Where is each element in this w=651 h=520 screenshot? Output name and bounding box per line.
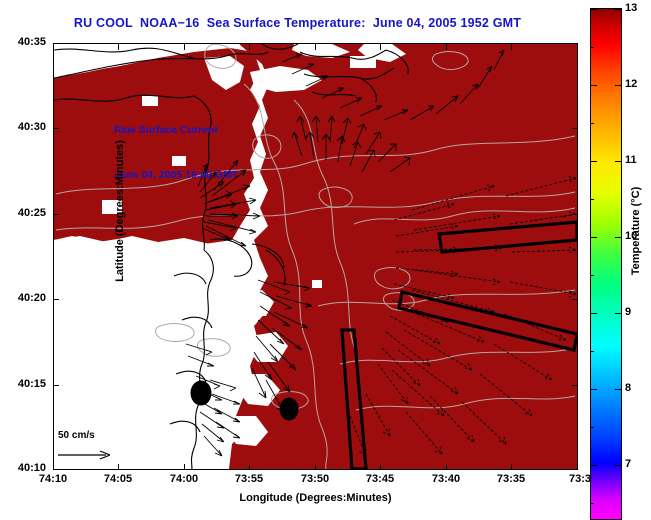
y-tick-label: 40:25 bbox=[0, 207, 46, 219]
y-axis-label: Latitude (Degrees:Minutes) bbox=[114, 81, 126, 341]
scale-bar-arrow bbox=[58, 449, 110, 461]
y-tick-label: 40:20 bbox=[0, 292, 46, 304]
radar-site-marker bbox=[280, 398, 299, 421]
x-tick-label: 74:05 bbox=[88, 473, 148, 485]
x-tick-label: 74:00 bbox=[154, 473, 214, 485]
x-tick-label: 73:45 bbox=[350, 473, 410, 485]
colorbar-tick-label: 7 bbox=[625, 458, 631, 470]
scale-bar-label: 50 cm/s bbox=[58, 430, 95, 441]
map-canvas bbox=[54, 44, 577, 469]
colorbar-tick-label: 13 bbox=[625, 2, 637, 14]
y-tick-label: 40:15 bbox=[0, 378, 46, 390]
x-tick-label: 73:55 bbox=[219, 473, 279, 485]
page-title: RU COOL NOAA−16 Sea Surface Temperature:… bbox=[0, 16, 595, 30]
colorbar-tick-label: 12 bbox=[625, 78, 637, 90]
x-tick-label: 73:50 bbox=[285, 473, 345, 485]
plot-area[interactable]: Raw Surface Current June 04, 2005 19:00 … bbox=[53, 43, 578, 470]
sst-map-figure: RU COOL NOAA−16 Sea Surface Temperature:… bbox=[0, 0, 651, 515]
x-tick-label: 74:10 bbox=[23, 473, 83, 485]
y-tick-label: 40:30 bbox=[0, 121, 46, 133]
colorbar-tick-label: 8 bbox=[625, 382, 631, 394]
radar-site-marker bbox=[191, 381, 212, 406]
colorbar-title: Temperature (°C) bbox=[630, 151, 642, 311]
x-axis-label: Longitude (Degrees:Minutes) bbox=[53, 492, 578, 504]
y-tick-label: 40:35 bbox=[0, 36, 46, 48]
x-tick-label: 73:40 bbox=[416, 473, 476, 485]
x-tick-label: 73:35 bbox=[481, 473, 541, 485]
